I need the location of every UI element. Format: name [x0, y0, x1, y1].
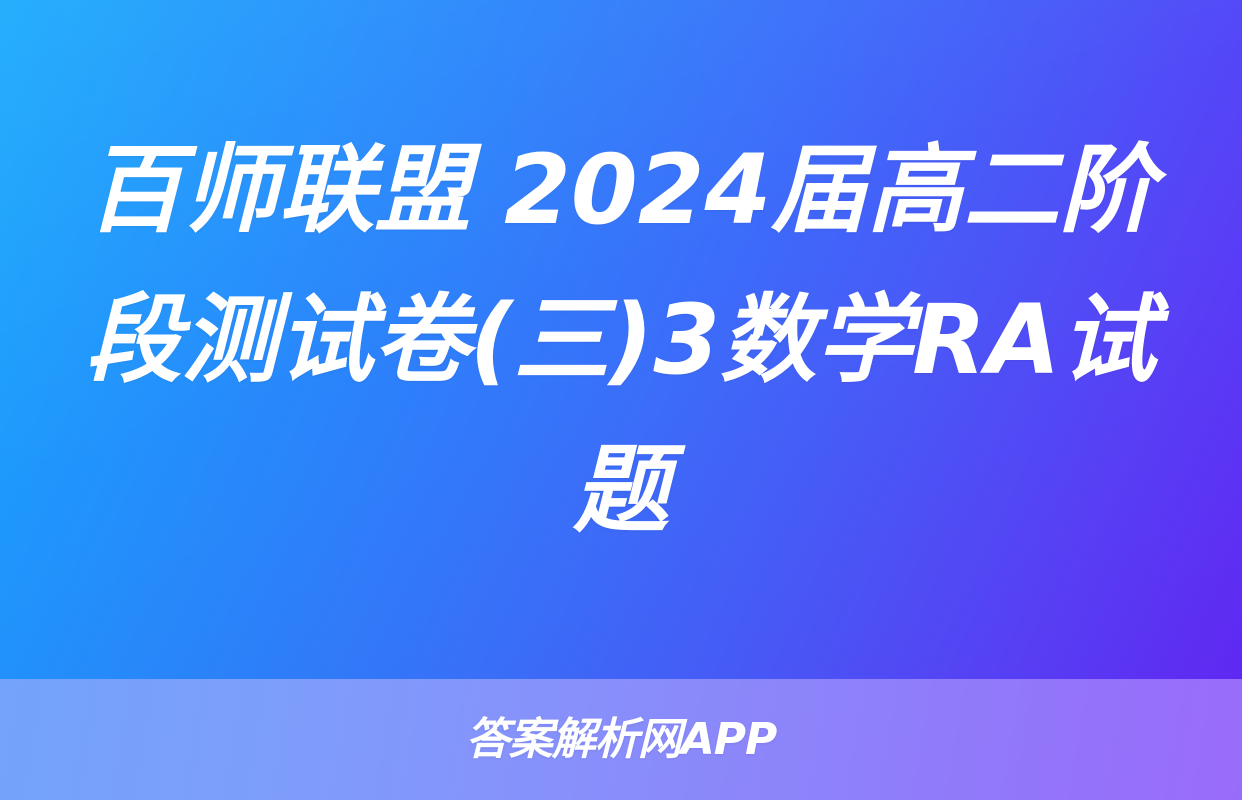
- page-title: 百师联盟 2024届高二阶段测试卷(三)3数学RA试题: [72, 115, 1170, 565]
- hero-gradient-panel: 百师联盟 2024届高二阶段测试卷(三)3数学RA试题: [0, 0, 1242, 679]
- app-watermark-text: 答案解析网APP: [466, 718, 777, 762]
- app-watermark-band: 答案解析网APP: [0, 679, 1242, 800]
- hero-content: 百师联盟 2024届高二阶段测试卷(三)3数学RA试题: [0, 115, 1242, 565]
- exam-paper-title-card: 百师联盟 2024届高二阶段测试卷(三)3数学RA试题 答案解析网APP: [0, 0, 1242, 800]
